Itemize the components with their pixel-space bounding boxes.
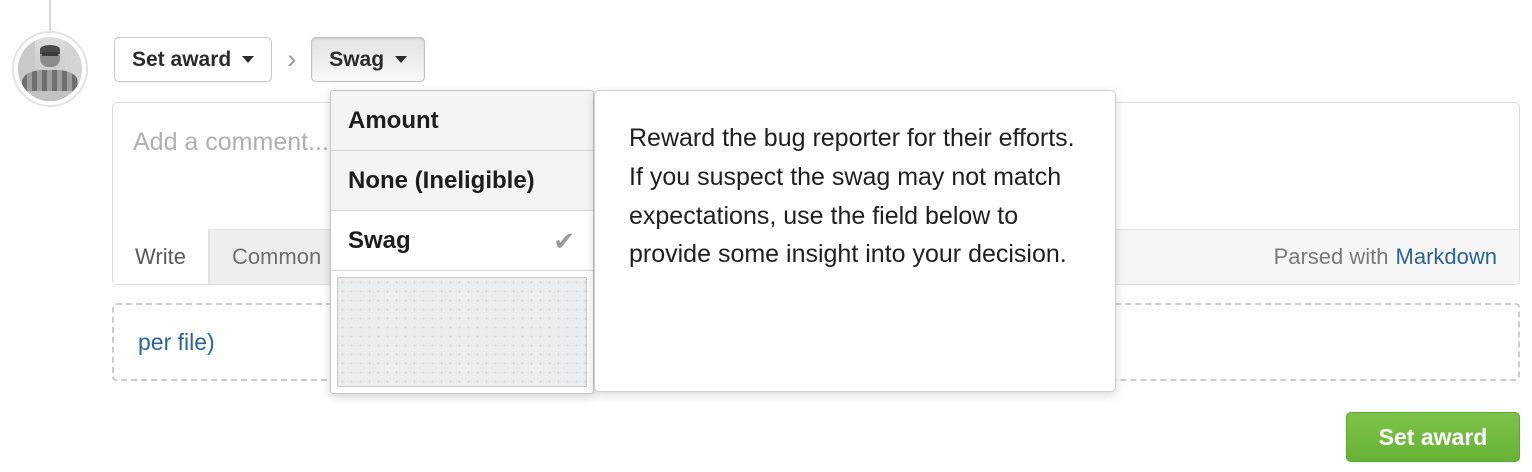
markdown-link[interactable]: Markdown [1396, 244, 1497, 270]
breadcrumb: Set award › Swag [114, 37, 425, 82]
set-award-dropdown-label: Set award [132, 49, 231, 70]
chevron-down-icon [242, 56, 254, 63]
set-award-dropdown-button[interactable]: Set award [114, 37, 272, 82]
file-dropzone-text[interactable]: per file) [114, 329, 215, 356]
award-panel-screen: Set award › Swag Add a comment... Write … [0, 0, 1532, 472]
breadcrumb-separator-icon: › [287, 46, 296, 73]
chevron-down-icon [395, 56, 407, 63]
comment-input-placeholder[interactable]: Add a comment... [133, 128, 329, 157]
markdown-note: Parsed with Markdown [1274, 230, 1519, 284]
menu-item-amount[interactable]: Amount [331, 91, 593, 151]
swag-help-tooltip: Reward the bug reporter for their effort… [594, 90, 1116, 392]
tab-common-responses[interactable]: Common [209, 230, 344, 284]
swag-dropdown-button[interactable]: Swag [311, 37, 425, 82]
avatar-glasses [42, 52, 59, 56]
award-type-dropdown-menu: Amount None (Ineligible) Swag ✔ [330, 90, 594, 394]
avatar-desk [18, 91, 82, 101]
tab-write[interactable]: Write [113, 229, 209, 284]
markdown-note-label: Parsed with [1274, 244, 1389, 270]
menu-item-amount-label: Amount [348, 107, 439, 135]
menu-empty-panel [337, 277, 587, 387]
menu-item-swag[interactable]: Swag ✔ [331, 211, 593, 271]
timeline-connector-line [49, 0, 51, 32]
set-award-submit-button[interactable]: Set award [1346, 412, 1520, 462]
swag-dropdown-label: Swag [329, 49, 384, 70]
tab-write-label: Write [135, 244, 186, 270]
swag-help-tooltip-text: Reward the bug reporter for their effort… [629, 119, 1081, 274]
tab-common-responses-label: Common [232, 244, 321, 270]
menu-item-none-ineligible-label: None (Ineligible) [348, 167, 535, 195]
menu-item-none-ineligible[interactable]: None (Ineligible) [331, 151, 593, 211]
avatar[interactable] [12, 31, 88, 107]
avatar-photo [18, 37, 82, 101]
check-icon: ✔ [553, 228, 575, 254]
menu-item-swag-label: Swag [348, 227, 411, 255]
